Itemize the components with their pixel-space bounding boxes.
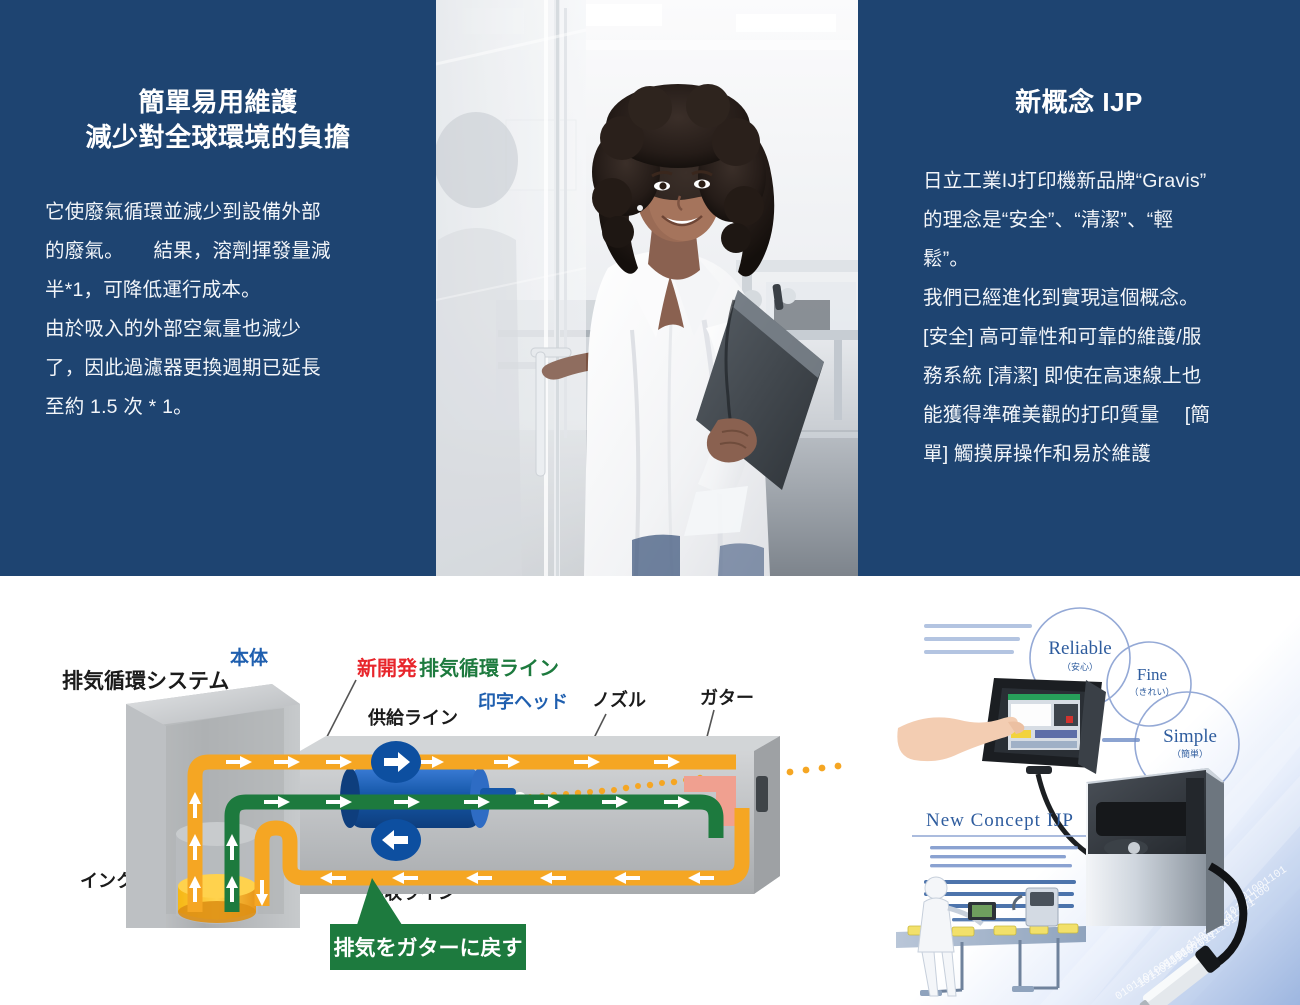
right-body-line-8: 單] 觸摸屏操作和易於維護 [923, 435, 1260, 474]
left-panel-title: 簡單易用維護 減少對全球環境的負擔 [30, 85, 406, 155]
slide-root: 簡單易用維護 減少對全球環境的負擔 它使廢氣循環並減少到設備外部 的廢氣。 結果… [0, 0, 1300, 1005]
brochure-side-note [1102, 738, 1140, 742]
right-panel-body: 日立工業IJ打印機新品牌“Gravis” 的理念是“安全”、“清潔”、“輕 鬆”… [923, 162, 1260, 474]
left-panel-title-line2: 減少對全球環境的負擔 [30, 120, 406, 155]
left-body-line-3: 半*1，可降低運行成本。 [45, 271, 396, 310]
right-navy-panel: 新概念 IJP 日立工業IJ打印機新品牌“Gravis” 的理念是“安全”、“清… [858, 0, 1300, 576]
diagram-label-ink: インク [80, 871, 134, 891]
right-body-line-1: 日立工業IJ打印機新品牌“Gravis” [923, 162, 1260, 201]
right-body-line-6: 務系統 [清潔] 即使在高速線上也 [923, 357, 1260, 396]
right-body-line-3: 鬆”。 [923, 240, 1260, 279]
left-body-line-4: 由於吸入的外部空氣量也減少 [45, 310, 396, 349]
left-body-line-6: 至約 1.5 次 * 1。 [45, 388, 396, 427]
circle-fine-label-en: Fine [1137, 665, 1167, 684]
brochure-heading: New Concept IJP [926, 810, 1074, 831]
pump-recovery-icon [371, 819, 421, 861]
circle-simple-label-jp: （簡単） [1172, 748, 1208, 759]
diagram-label-gutter: ガター [700, 688, 754, 708]
left-body-line-5: 了，因此過濾器更換週期已延長 [45, 349, 396, 388]
left-navy-panel: 簡單易用維護 減少對全球環境的負擔 它使廢氣循環並減少到設備外部 的廢氣。 結果… [0, 0, 436, 576]
left-body-line-1: 它使廢氣循環並減少到設備外部 [45, 193, 396, 232]
circle-reliable-label-en: Reliable [1048, 638, 1111, 659]
left-panel-body: 它使廢氣循環並減少到設備外部 的廢氣。 結果，溶劑揮發量減 半*1，可降低運行成… [45, 193, 396, 427]
diagram-label-exhaust-line: 排気循環ライン [419, 656, 559, 680]
circle-fine-label-jp: （きれい） [1129, 687, 1174, 697]
right-body-line-7: 能獲得準確美觀的打印質量 [簡 [923, 396, 1260, 435]
right-body-line-2: 的理念是“安全”、“清潔”、“輕 [923, 201, 1260, 240]
office-photo [436, 0, 858, 576]
left-body-line-2: 的廢氣。 結果，溶劑揮發量減 [45, 232, 396, 271]
circle-simple-label-en: Simple [1163, 726, 1217, 747]
pump-supply-icon [371, 741, 421, 783]
brochure-image: 10110101001011 0101101001101 11010010110… [890, 596, 1300, 1005]
diagram-label-nozzle: ノズル [592, 689, 646, 710]
exhaust-return-callout-label: 排気をガターに戻す [334, 936, 523, 960]
diagram-label-print-head: 印字ヘッド [478, 691, 568, 712]
right-body-line-5: [安全] 高可靠性和可靠的維護/服 [923, 318, 1260, 357]
diagram-label-supply-line: 供給ライン [367, 707, 458, 728]
brochure-body-note [930, 846, 1078, 867]
exhaust-circulation-diagram: 排気循環システム 本体 新開発 排気循環ライン 印字ヘッド ノズル ガター 供給… [0, 576, 880, 1005]
diagram-label-new-development: 新開発 [357, 656, 418, 680]
diagram-label-body: 本体 [230, 646, 269, 669]
top-band: 簡單易用維護 減少對全球環境的負擔 它使廢氣循環並減少到設備外部 的廢氣。 結果… [0, 0, 1300, 576]
diagram-title: 排気循環システム [62, 669, 229, 693]
left-panel-title-line1: 簡單易用維護 [30, 85, 406, 120]
right-body-line-4: 我們已經進化到實現這個概念。 [923, 279, 1260, 318]
right-panel-title: 新概念 IJP [888, 85, 1270, 120]
circle-reliable-label-jp: （安心） [1062, 661, 1098, 672]
